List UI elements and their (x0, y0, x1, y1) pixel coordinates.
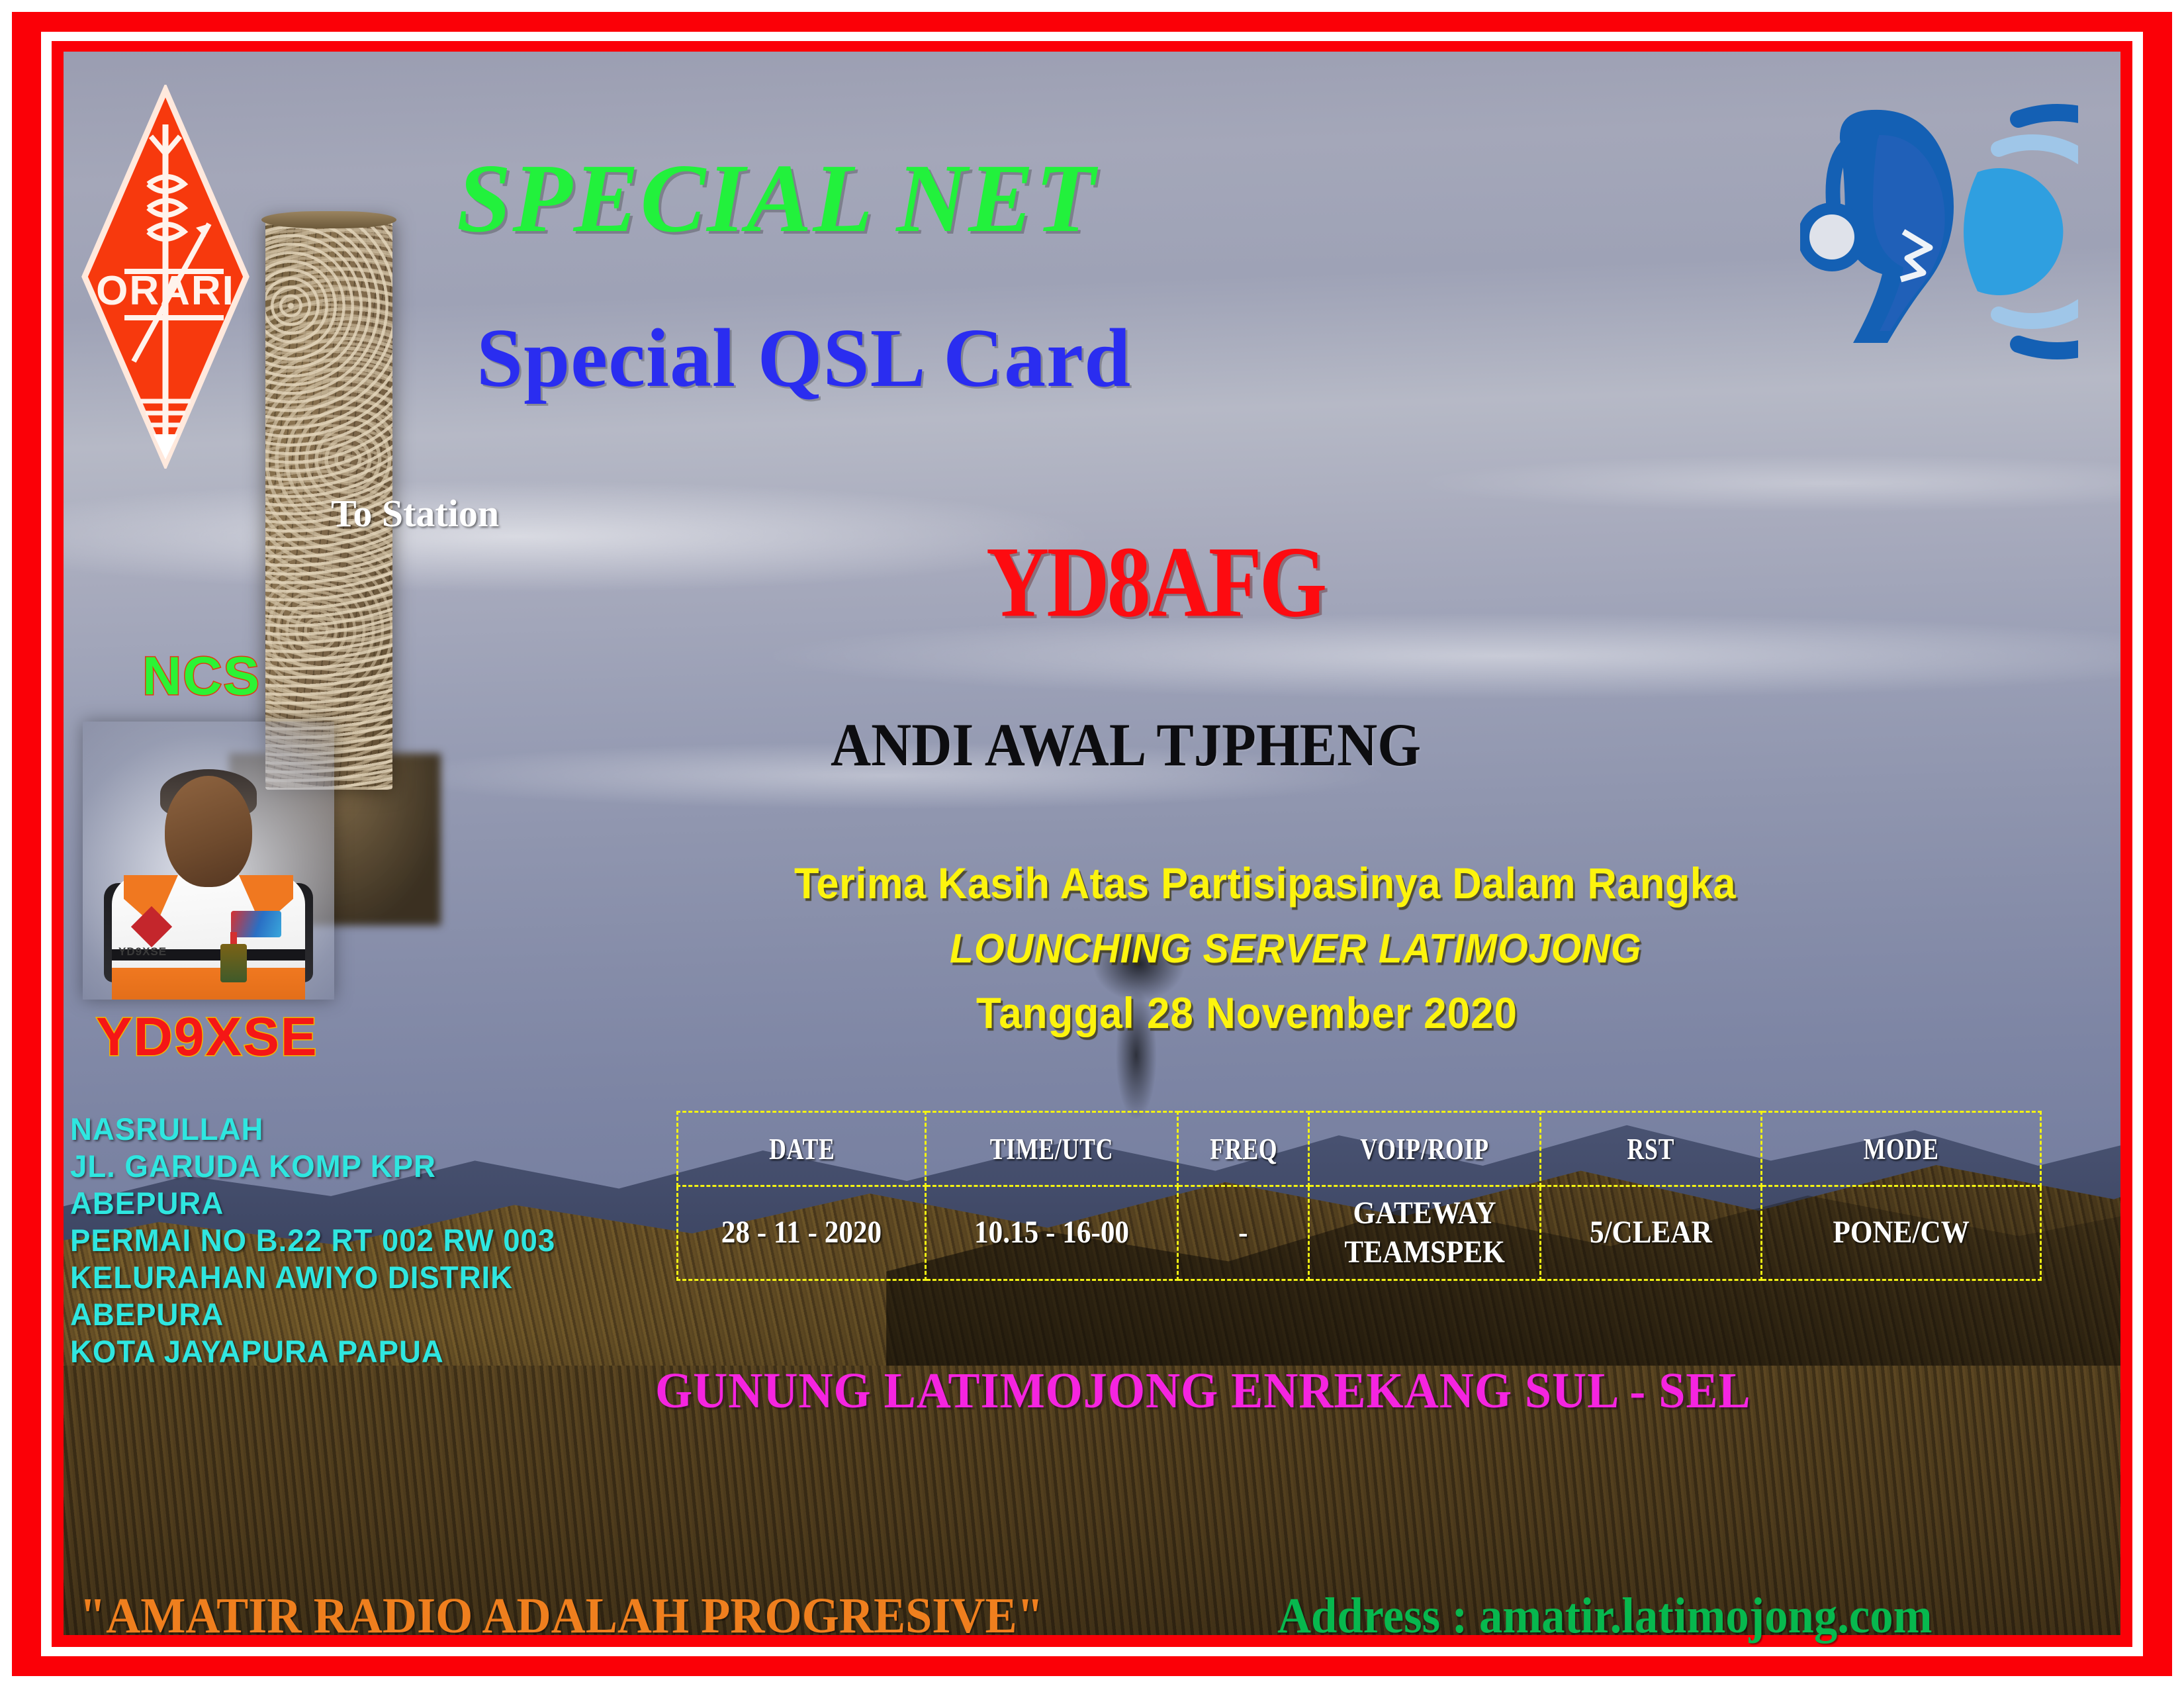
table-header-time: TIME/UTC (938, 1112, 1165, 1186)
operator-face (165, 776, 252, 887)
sender-address-block: NASRULLAH JL. GARUDA KOMP KPR ABEPURA PE… (70, 1111, 555, 1370)
id-card (220, 944, 247, 982)
ncs-operator-photo: YD9XSE (83, 722, 334, 1000)
address-line: ABEPURA (70, 1185, 555, 1222)
cell-mode-text: PONE/CW (1776, 1213, 2026, 1252)
table-header-rst-text: RST (1564, 1132, 1737, 1166)
table-header-voip-text: VOIP/ROIP (1334, 1132, 1516, 1166)
radio-headset-logo (1800, 93, 2078, 371)
cell-voip-text-line2: TEAMSPEK (1321, 1233, 1527, 1272)
cell-freq-text: - (1185, 1213, 1301, 1252)
orari-logo-text: ORARI (96, 268, 235, 314)
table-header-mode: MODE (1775, 1112, 2026, 1186)
uniform-waistband (112, 968, 305, 1000)
address-line: JL. GARUDA KOMP KPR (70, 1148, 555, 1185)
cell-rst-text: 5/CLEAR (1552, 1213, 1749, 1252)
web-address: Address : amatir.latimojong.com (1277, 1587, 1932, 1645)
mountain-location-caption: GUNUNG LATIMOJONG ENREKANG SUL - SEL (655, 1362, 1751, 1420)
table-header-date: DATE (690, 1112, 913, 1186)
orari-logo: ORARI (79, 85, 251, 469)
subtitle-special-qsl-card: Special QSL Card (477, 311, 1131, 406)
qsl-card: ORARI YD9XSE SPECIAL NET (0, 0, 2184, 1688)
qso-log-table: DATE TIME/UTC FREQ VOIP/ROIP RST MODE 28… (676, 1111, 2042, 1281)
cell-time: 10.15 - 16-00 (925, 1186, 1177, 1280)
uniform-chest-emblem (231, 911, 281, 937)
table-header-mode-text: MODE (1791, 1132, 2011, 1166)
table-header-voip: VOIP/ROIP (1320, 1112, 1529, 1186)
event-date: Tanggal 28 November 2020 (976, 988, 1518, 1038)
page-title-special-net: SPECIAL NET (457, 142, 1096, 255)
address-line: PERMAI NO B.22 RT 002 RW 003 (70, 1222, 555, 1259)
cell-freq: - (1178, 1186, 1309, 1280)
recipient-callsign: YD8AFG (986, 523, 1324, 640)
table-header-rst: RST (1551, 1112, 1750, 1186)
uniform-callsign-text: YD9XSE (118, 945, 167, 959)
ncs-label: NCS (142, 645, 261, 708)
address-line: NASRULLAH (70, 1111, 555, 1148)
club-motto: "AMATIR RADIO ADALAH PROGRESIVE" (79, 1587, 1044, 1645)
address-line: KELURAHAN AWIYO DISTRIK (70, 1259, 555, 1296)
cell-time-text: 10.15 - 16-00 (939, 1213, 1164, 1252)
address-line: ABEPURA (70, 1296, 555, 1333)
table-header-freq: FREQ (1184, 1112, 1302, 1186)
cell-mode: PONE/CW (1761, 1186, 2040, 1280)
event-name: LOUNCHING SERVER LATIMOJONG (950, 925, 1642, 972)
thanks-message: Terima Kasih Atas Partisipasinya Dalam R… (794, 858, 1736, 908)
cell-voip-text-line1: GATEWAY (1321, 1194, 1527, 1233)
table-header-time-text: TIME/UTC (952, 1132, 1150, 1166)
cell-rst: 5/CLEAR (1540, 1186, 1761, 1280)
table-header-freq-text: FREQ (1192, 1132, 1294, 1166)
table-header-row: DATE TIME/UTC FREQ VOIP/ROIP RST MODE (678, 1112, 2041, 1186)
ncs-callsign: YD9XSE (96, 1006, 318, 1068)
cell-date: 28 - 11 - 2020 (678, 1186, 926, 1280)
table-header-date-text: DATE (704, 1132, 899, 1166)
to-station-label: To Station (331, 491, 499, 536)
address-line: KOTA JAYAPURA PAPUA (70, 1333, 555, 1370)
recipient-operator-name: ANDI AWAL TJPHENG (831, 710, 1421, 780)
cell-date-text: 28 - 11 - 2020 (691, 1213, 913, 1252)
cell-voip: GATEWAY TEAMSPEK (1308, 1186, 1540, 1280)
table-row: 28 - 11 - 2020 10.15 - 16-00 - GATEWAY T… (678, 1186, 2041, 1280)
